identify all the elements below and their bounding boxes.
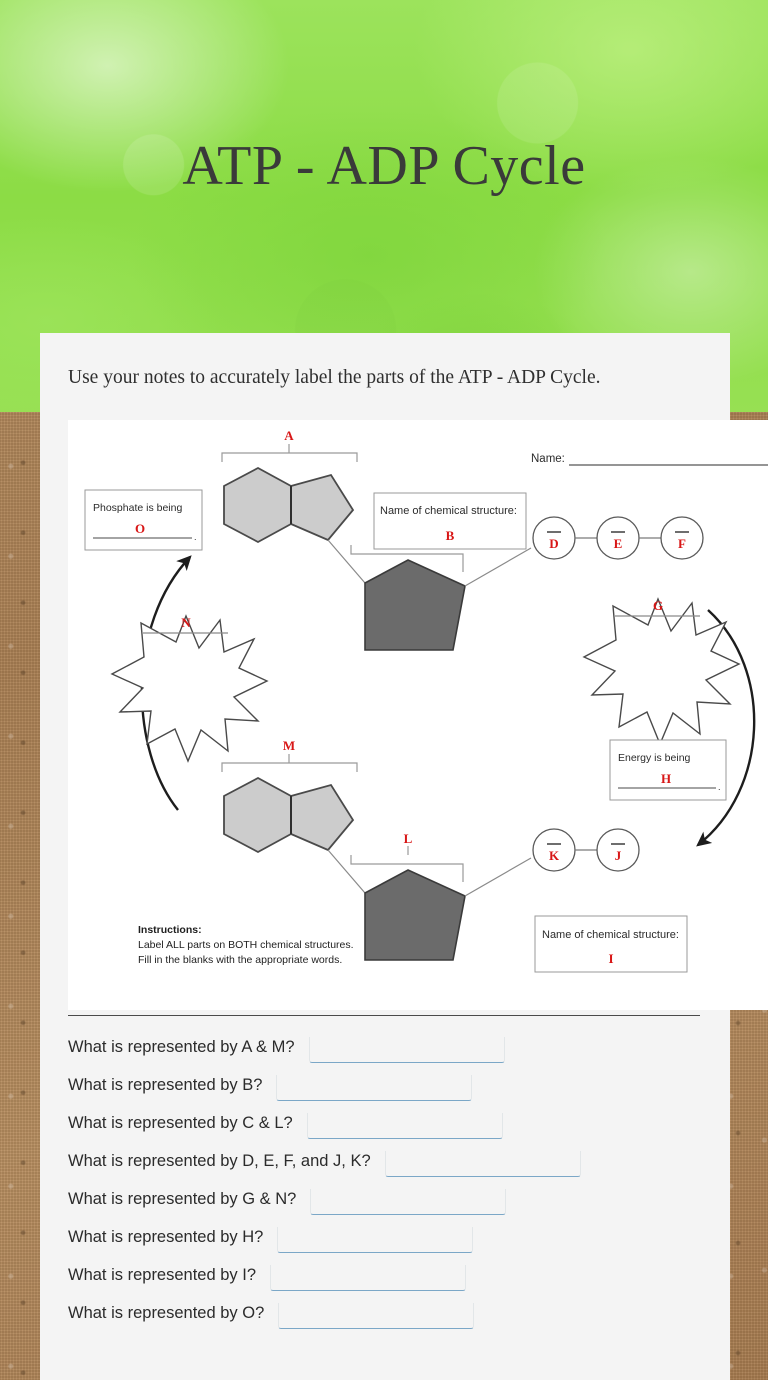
- question-row: What is represented by H?: [68, 1215, 718, 1253]
- question-label: What is represented by H?: [68, 1228, 263, 1253]
- bond-sugar-phosphate-bottom: [465, 858, 531, 896]
- question-row: What is represented by D, E, F, and J, K…: [68, 1139, 718, 1177]
- questions-divider: [68, 1015, 700, 1016]
- label-n: N: [181, 615, 191, 630]
- answer-input-i[interactable]: [270, 1265, 466, 1291]
- energy-period: .: [718, 782, 721, 792]
- name-structure-label-bottom: Name of chemical structure:: [542, 929, 679, 941]
- question-row: What is represented by O?: [68, 1291, 718, 1329]
- name-structure-box-top: Name of chemical structure: B: [374, 493, 526, 549]
- instructions-line-2: Fill in the blanks with the appropriate …: [138, 954, 342, 966]
- content-card: Use your notes to accurately label the p…: [40, 333, 730, 1380]
- name-label: Name:: [531, 453, 565, 465]
- atp-adp-cycle-diagram: Name: A: [68, 420, 768, 1010]
- label-o: O: [135, 521, 145, 536]
- question-label: What is represented by O?: [68, 1304, 264, 1329]
- question-label: What is represented by B?: [68, 1076, 262, 1101]
- question-label: What is represented by D, E, F, and J, K…: [68, 1152, 371, 1177]
- question-label: What is represented by G & N?: [68, 1190, 296, 1215]
- phosphate-group-k: K: [533, 829, 575, 871]
- label-i: I: [608, 951, 613, 966]
- sugar-pentagon-top: [365, 560, 465, 650]
- answer-input-d-e-f-j-k[interactable]: [385, 1151, 581, 1177]
- instructions-line-1: Label ALL parts on BOTH chemical structu…: [138, 939, 354, 951]
- label-m: M: [283, 738, 295, 753]
- intro-text: Use your notes to accurately label the p…: [68, 365, 688, 392]
- instructions-heading: Instructions:: [138, 924, 202, 936]
- label-f: F: [678, 536, 686, 551]
- question-row: What is represented by G & N?: [68, 1177, 718, 1215]
- phosphate-statement-text: Phosphate is being: [93, 502, 182, 514]
- sugar-pentagon-bottom: [365, 870, 465, 960]
- energy-statement-box: Energy is being H .: [610, 740, 726, 800]
- bond-base-sugar-bottom: [328, 850, 365, 893]
- answer-input-o[interactable]: [278, 1303, 474, 1329]
- phosphate-group-f: F: [661, 517, 703, 559]
- adenine-base-top: [224, 468, 353, 542]
- answer-input-c-l[interactable]: [307, 1113, 503, 1139]
- name-structure-label-top: Name of chemical structure:: [380, 505, 517, 517]
- instructions-block: Instructions: Label ALL parts on BOTH ch…: [138, 924, 354, 966]
- page-title: ATP - ADP Cycle: [0, 134, 768, 198]
- questions-list: What is represented by A & M? What is re…: [68, 1025, 718, 1329]
- energy-burst-right: G: [584, 598, 739, 744]
- name-structure-box-bottom: Name of chemical structure: I: [535, 916, 687, 972]
- answer-input-a-m[interactable]: [309, 1037, 505, 1063]
- question-label: What is represented by A & M?: [68, 1038, 295, 1063]
- worksheet-diagram: Name: A: [68, 420, 768, 1010]
- label-h: H: [661, 771, 671, 786]
- bond-sugar-phosphate-top: [465, 548, 531, 586]
- question-row: What is represented by A & M?: [68, 1025, 718, 1063]
- answer-input-h[interactable]: [277, 1227, 473, 1253]
- phosphate-period: .: [194, 532, 197, 542]
- phosphate-group-j: J: [597, 829, 639, 871]
- label-g: G: [653, 598, 663, 613]
- label-l: L: [404, 831, 413, 846]
- label-b: B: [446, 528, 455, 543]
- label-a: A: [284, 428, 294, 443]
- answer-input-g-n[interactable]: [310, 1189, 506, 1215]
- bracket-m: [222, 754, 357, 772]
- label-e: E: [614, 536, 623, 551]
- label-k: K: [549, 848, 560, 863]
- question-row: What is represented by C & L?: [68, 1101, 718, 1139]
- energy-statement-text: Energy is being: [618, 752, 691, 764]
- answer-input-b[interactable]: [276, 1075, 472, 1101]
- phosphate-group-e: E: [597, 517, 639, 559]
- worksheet-page: ATP - ADP Cycle Use your notes to accura…: [0, 0, 768, 1380]
- question-row: What is represented by B?: [68, 1063, 718, 1101]
- bracket-a: [222, 444, 357, 462]
- bond-base-sugar-top: [328, 540, 365, 583]
- label-d: D: [549, 536, 558, 551]
- question-label: What is represented by C & L?: [68, 1114, 293, 1139]
- phosphate-statement-box: Phosphate is being O .: [85, 490, 202, 550]
- adenine-base-bottom: [224, 778, 353, 852]
- energy-burst-left: N: [112, 615, 267, 761]
- question-label: What is represented by I?: [68, 1266, 256, 1291]
- question-row: What is represented by I?: [68, 1253, 718, 1291]
- label-j: J: [615, 848, 622, 863]
- phosphate-group-d: D: [533, 517, 575, 559]
